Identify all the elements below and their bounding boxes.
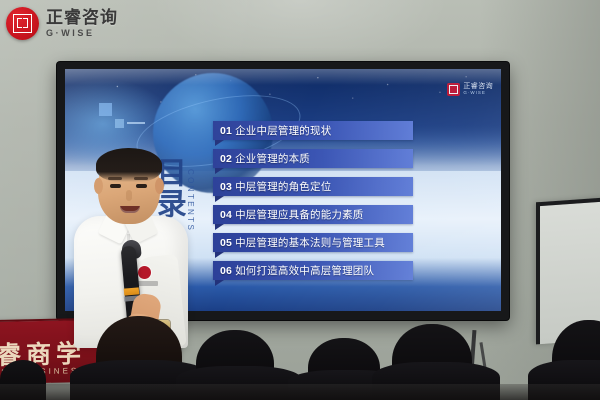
presenter-eye-left [110, 184, 121, 188]
wall-light-sheen [150, 0, 450, 70]
agenda-number: 04 [220, 209, 232, 221]
agenda-item: 01 企业中层管理的现状 [213, 121, 413, 140]
agenda-bar-tail [215, 168, 224, 174]
agenda-number: 05 [220, 237, 232, 249]
agenda-label: 中层管理的基本法则与管理工具 [235, 235, 385, 250]
agenda-label: 中层管理的角色定位 [235, 179, 331, 194]
brand-name-en: G·WISE [46, 29, 118, 38]
agenda-text: 04 中层管理应具备的能力素质 [220, 205, 364, 224]
agenda-number: 06 [220, 265, 232, 277]
agenda-number: 02 [220, 153, 232, 165]
slide-decor-dash [127, 122, 145, 124]
brand-overlay-text: 正睿咨询 G·WISE [46, 9, 118, 38]
presenter-shirt-logo-text [136, 281, 158, 286]
agenda-bar-tail [215, 224, 224, 230]
presenter-ear-right [155, 178, 164, 194]
agenda-item: 02 企业管理的本质 [213, 149, 413, 168]
presenter-nose [126, 190, 132, 201]
agenda-text: 02 企业管理的本质 [220, 149, 310, 168]
agenda-number: 01 [220, 125, 232, 137]
agenda-label: 中层管理应具备的能力素质 [235, 207, 363, 222]
slide-decor-square-1 [99, 103, 112, 116]
agenda-item: 06 如何打造高效中高层管理团队 [213, 261, 413, 280]
slide-watermark-text: 正睿咨询 G·WISE [463, 83, 493, 96]
agenda-bar-tail [215, 252, 224, 258]
gwise-seal-icon [6, 7, 39, 40]
agenda-label: 如何打造高效中高层管理团队 [235, 263, 374, 278]
agenda-item: 05 中层管理的基本法则与管理工具 [213, 233, 413, 252]
agenda-item: 03 中层管理的角色定位 [213, 177, 413, 196]
agenda-text: 06 如何打造高效中高层管理团队 [220, 261, 374, 280]
slide-watermark-name-en: G·WISE [463, 91, 493, 96]
brand-overlay: 正睿咨询 G·WISE [6, 7, 118, 40]
agenda-bar-tail [215, 280, 224, 286]
agenda-item: 04 中层管理应具备的能力素质 [213, 205, 413, 224]
agenda-number: 03 [220, 181, 232, 193]
agenda-label: 企业中层管理的现状 [235, 123, 331, 138]
presenter-hair [96, 148, 162, 182]
agenda-text: 01 企业中层管理的现状 [220, 121, 331, 140]
table-edge [0, 384, 600, 400]
photo-scene: 正睿咨询 G·WISE 目录 CONTENTS 01 企业中层管理的现状 [0, 0, 600, 400]
gwise-seal-glyph [13, 14, 32, 33]
agenda-label: 企业管理的本质 [235, 151, 310, 166]
brand-name-cn: 正睿咨询 [46, 9, 118, 26]
presenter-eye-right [136, 184, 147, 188]
agenda-bar-tail [215, 196, 224, 202]
slide-agenda-list: 01 企业中层管理的现状 02 企业管理的本质 03 [213, 121, 413, 289]
presenter-shirt-logo [138, 266, 151, 279]
screen-top-glare [65, 69, 501, 85]
slide-decor-square-2 [115, 119, 124, 128]
agenda-text: 05 中层管理的基本法则与管理工具 [220, 233, 385, 252]
presenter-eyebrow-left [108, 177, 122, 180]
agenda-text: 03 中层管理的角色定位 [220, 177, 331, 196]
agenda-bar-tail [215, 140, 224, 146]
microphone-orange-band [124, 287, 140, 295]
presenter-eyebrow-right [134, 177, 148, 180]
presenter-ear-left [94, 178, 103, 194]
